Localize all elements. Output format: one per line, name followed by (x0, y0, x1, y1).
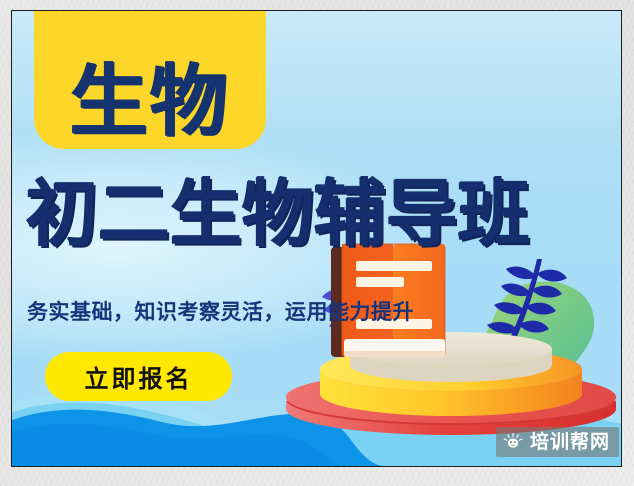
book-pages-edge (344, 351, 445, 357)
book-label-bar-1 (356, 261, 432, 271)
book-label-bar-2 (356, 277, 404, 287)
subject-badge: 生物 (34, 10, 266, 149)
watermark-label: 培训帮网 (530, 433, 610, 452)
image-frame: 生物 初二生物辅导班 务实基础，知识考察灵活，运用能力提升 立即报名 (0, 0, 634, 486)
watermark: 培训帮网 (496, 427, 619, 457)
book-podium-illustration (280, 239, 622, 439)
enroll-now-button[interactable]: 立即报名 (45, 352, 232, 401)
page-title: 初二生物辅导班 (26, 178, 610, 250)
enroll-now-button-label: 立即报名 (85, 359, 193, 394)
sun-face-icon (502, 431, 524, 453)
poster-canvas: 生物 初二生物辅导班 务实基础，知识考察灵活，运用能力提升 立即报名 (11, 10, 622, 467)
subtitle-text: 务实基础，知识考察灵活，运用能力提升 (27, 296, 414, 326)
subject-badge-label: 生物 (70, 63, 230, 141)
